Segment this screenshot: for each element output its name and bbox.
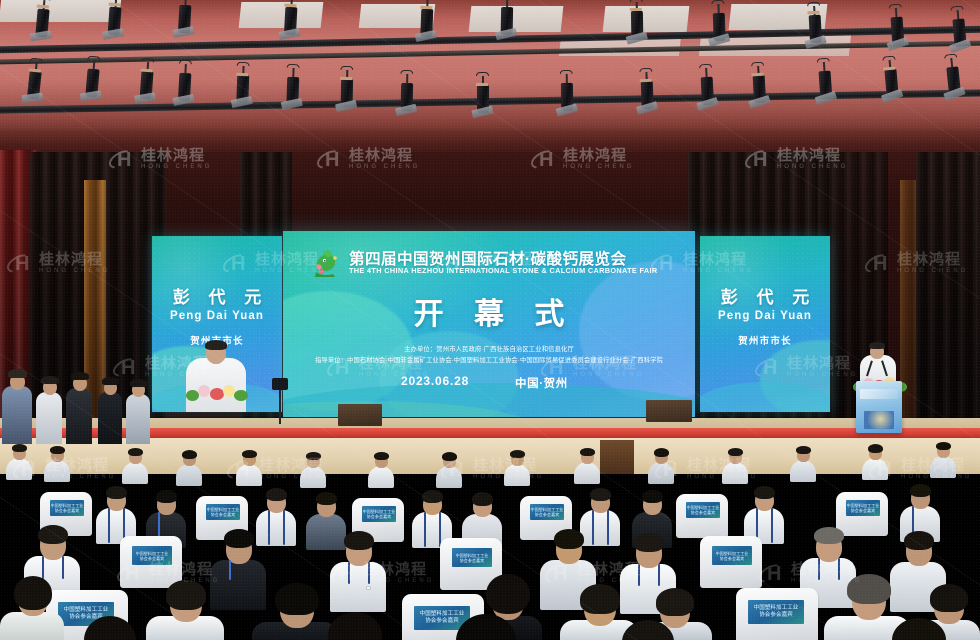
stage-light: [177, 60, 192, 102]
audience-member: [300, 454, 326, 488]
ceiling-panel: [603, 6, 690, 32]
crew-hair: [102, 377, 119, 385]
crew-member: [126, 394, 150, 444]
audience-member: [574, 450, 600, 484]
chair-placard: 中国塑料加工工业 协会参会嘉宾: [132, 546, 172, 565]
stage-light: [107, 0, 123, 35]
podium-screen-graphic: [864, 411, 894, 429]
placard-line-2: 协会参会嘉宾: [720, 556, 745, 561]
speaker-hair: [869, 342, 885, 349]
audience-member: [930, 444, 956, 478]
audience-member: [722, 450, 748, 484]
ceiling-panel: [0, 0, 121, 22]
right-screen-speaker-role: 贺州市市长: [700, 333, 830, 347]
crew-member: [66, 388, 92, 444]
placard-line-2: 协会参会嘉宾: [140, 556, 165, 561]
placard-line-2: 协会参会嘉宾: [211, 512, 236, 517]
hezhou-mascot-logo: [311, 248, 345, 278]
chair-placard: 中国塑料加工工业 协会参会嘉宾: [748, 600, 804, 624]
stage-light: [630, 0, 644, 39]
left-led-screen: 彭 代 元 Peng Dai Yuan 贺州市市长: [152, 236, 282, 412]
audience-member: [0, 582, 64, 640]
ceiling-panel: [239, 2, 324, 28]
chair-placard: 中国塑料加工工业 协会参会嘉宾: [846, 500, 880, 516]
audience-member: [862, 446, 888, 480]
audience-member: [368, 454, 394, 488]
stage-light: [476, 72, 489, 113]
audience-member-foreground: [860, 628, 980, 640]
stage-light: [34, 0, 51, 37]
audience-member-foreground: [300, 622, 410, 640]
ceiling: [0, 0, 980, 138]
opening-ceremony-headline: 开 幕 式: [283, 289, 695, 333]
audience-member: [790, 448, 816, 482]
chair-placard: 中国塑料加工工业 协会参会嘉宾: [50, 500, 84, 516]
crew-hair: [41, 376, 59, 384]
stage-light: [560, 70, 574, 111]
placard-line-2: 协会参会嘉宾: [851, 508, 876, 513]
camera-tripod: [279, 390, 281, 424]
stage-light: [400, 70, 414, 111]
guiding-units-line: 指导单位：中国石材协会·中国非金属矿工业协会·中国塑料加工工业协会·中国国际贸易…: [283, 355, 695, 364]
stage-light: [340, 66, 354, 107]
video-camera: [272, 378, 288, 390]
stage-light: [235, 62, 249, 103]
placard-line-2: 协会参会嘉宾: [759, 612, 793, 619]
crew-hat: [8, 369, 27, 378]
stage-light: [807, 2, 822, 44]
audience-member-foreground: [596, 630, 700, 640]
ceiling-panel: [469, 6, 564, 32]
left-screen-speaker-name: 彭 代 元: [152, 283, 282, 308]
stage-light: [139, 58, 155, 100]
chair-placard: 中国塑料加工工业 协会参会嘉宾: [712, 546, 752, 565]
stage-light: [699, 64, 714, 106]
stage-light: [84, 56, 101, 98]
stage-light: [889, 4, 905, 46]
stage-light: [950, 6, 967, 48]
stage-light: [177, 0, 192, 33]
chair-placard: 中国塑料加工工业 协会参会嘉宾: [362, 506, 396, 522]
audience-seating: 中国塑料加工工业 协会参会嘉宾 中国塑料加工工业 协会参会嘉宾 中国塑料加工工业…: [0, 440, 980, 640]
placard-line-2: 协会参会嘉宾: [535, 512, 560, 517]
left-screen-live-feed: [162, 336, 272, 412]
chair-placard: 中国塑料加工工业 协会参会嘉宾: [452, 548, 492, 567]
stage-curtain: [916, 152, 980, 440]
stage-light: [419, 0, 433, 37]
stage-light: [285, 64, 299, 105]
audience-member-foreground: [424, 626, 544, 640]
chair-placard: 中国塑料加工工业 协会参会嘉宾: [530, 504, 564, 520]
placard-line-2: 协会参会嘉宾: [691, 510, 716, 515]
right-screen-speaker-pinyin: Peng Dai Yuan: [700, 310, 830, 322]
crew-hair: [130, 379, 147, 387]
chair-placard: 中国塑料加工工业 协会参会嘉宾: [206, 504, 240, 520]
stage-light: [26, 57, 43, 99]
stage-light: [817, 58, 833, 100]
placard-line-2: 协会参会嘉宾: [55, 508, 80, 513]
crew-member: [98, 392, 122, 444]
conference-hall-photo: 彭 代 元 Peng Dai Yuan 贺州市市长: [0, 0, 980, 640]
left-screen-speaker-pinyin: Peng Dai Yuan: [152, 310, 282, 322]
audience-member: [436, 454, 462, 488]
crew-hair: [71, 372, 89, 380]
placard-line-1: 中国塑料加工工业: [754, 605, 799, 612]
right-screen-speaker-name: 彭 代 元: [700, 283, 830, 308]
placard-line-1: 中国塑料加工工业: [64, 607, 109, 614]
stage-light: [283, 0, 298, 35]
right-led-screen: 彭 代 元 Peng Dai Yuan 贺州市市长: [700, 236, 830, 412]
audience-member: [6, 446, 32, 480]
stage-monitor-speaker: [338, 404, 382, 426]
audience-member: [122, 450, 148, 484]
stage-light: [882, 56, 899, 98]
placard-line-2: 协会参会嘉宾: [425, 618, 459, 625]
stage-light: [751, 62, 766, 104]
podium: [856, 381, 902, 433]
event-location: 中国·贺州: [515, 375, 568, 391]
audience-member: [176, 452, 202, 486]
main-led-screen: 第四届中国贺州国际石材·碳酸钙展览会 THE 4TH CHINA HEZHOU …: [283, 231, 695, 417]
audience-member: [236, 452, 262, 486]
crew-member: [2, 386, 32, 444]
audience-member: [330, 534, 386, 612]
placard-line-1: 中国塑料加工工业: [420, 611, 465, 618]
placard-line-2: 协会参会嘉宾: [460, 558, 485, 563]
audience-member-foreground: [62, 626, 158, 640]
stage-light: [711, 0, 725, 41]
organizer-line: 主办单位：贺州市人民政府·广西壮族自治区工业和信息化厅: [283, 344, 695, 353]
chair-placard: 中国塑料加工工业 协会参会嘉宾: [686, 502, 720, 518]
event-title-en: THE 4TH CHINA HEZHOU INTERNATIONAL STONE…: [349, 266, 687, 275]
crew-member: [36, 392, 62, 444]
stage-light: [500, 0, 514, 35]
audience-member: [504, 452, 530, 486]
placard-line-2: 协会参会嘉宾: [367, 514, 392, 519]
audience-member: [44, 448, 70, 482]
stage-light: [639, 68, 653, 109]
event-date: 2023.06.28: [401, 374, 469, 388]
audience-member: [648, 450, 674, 484]
stage-monitor-speaker: [646, 400, 692, 422]
